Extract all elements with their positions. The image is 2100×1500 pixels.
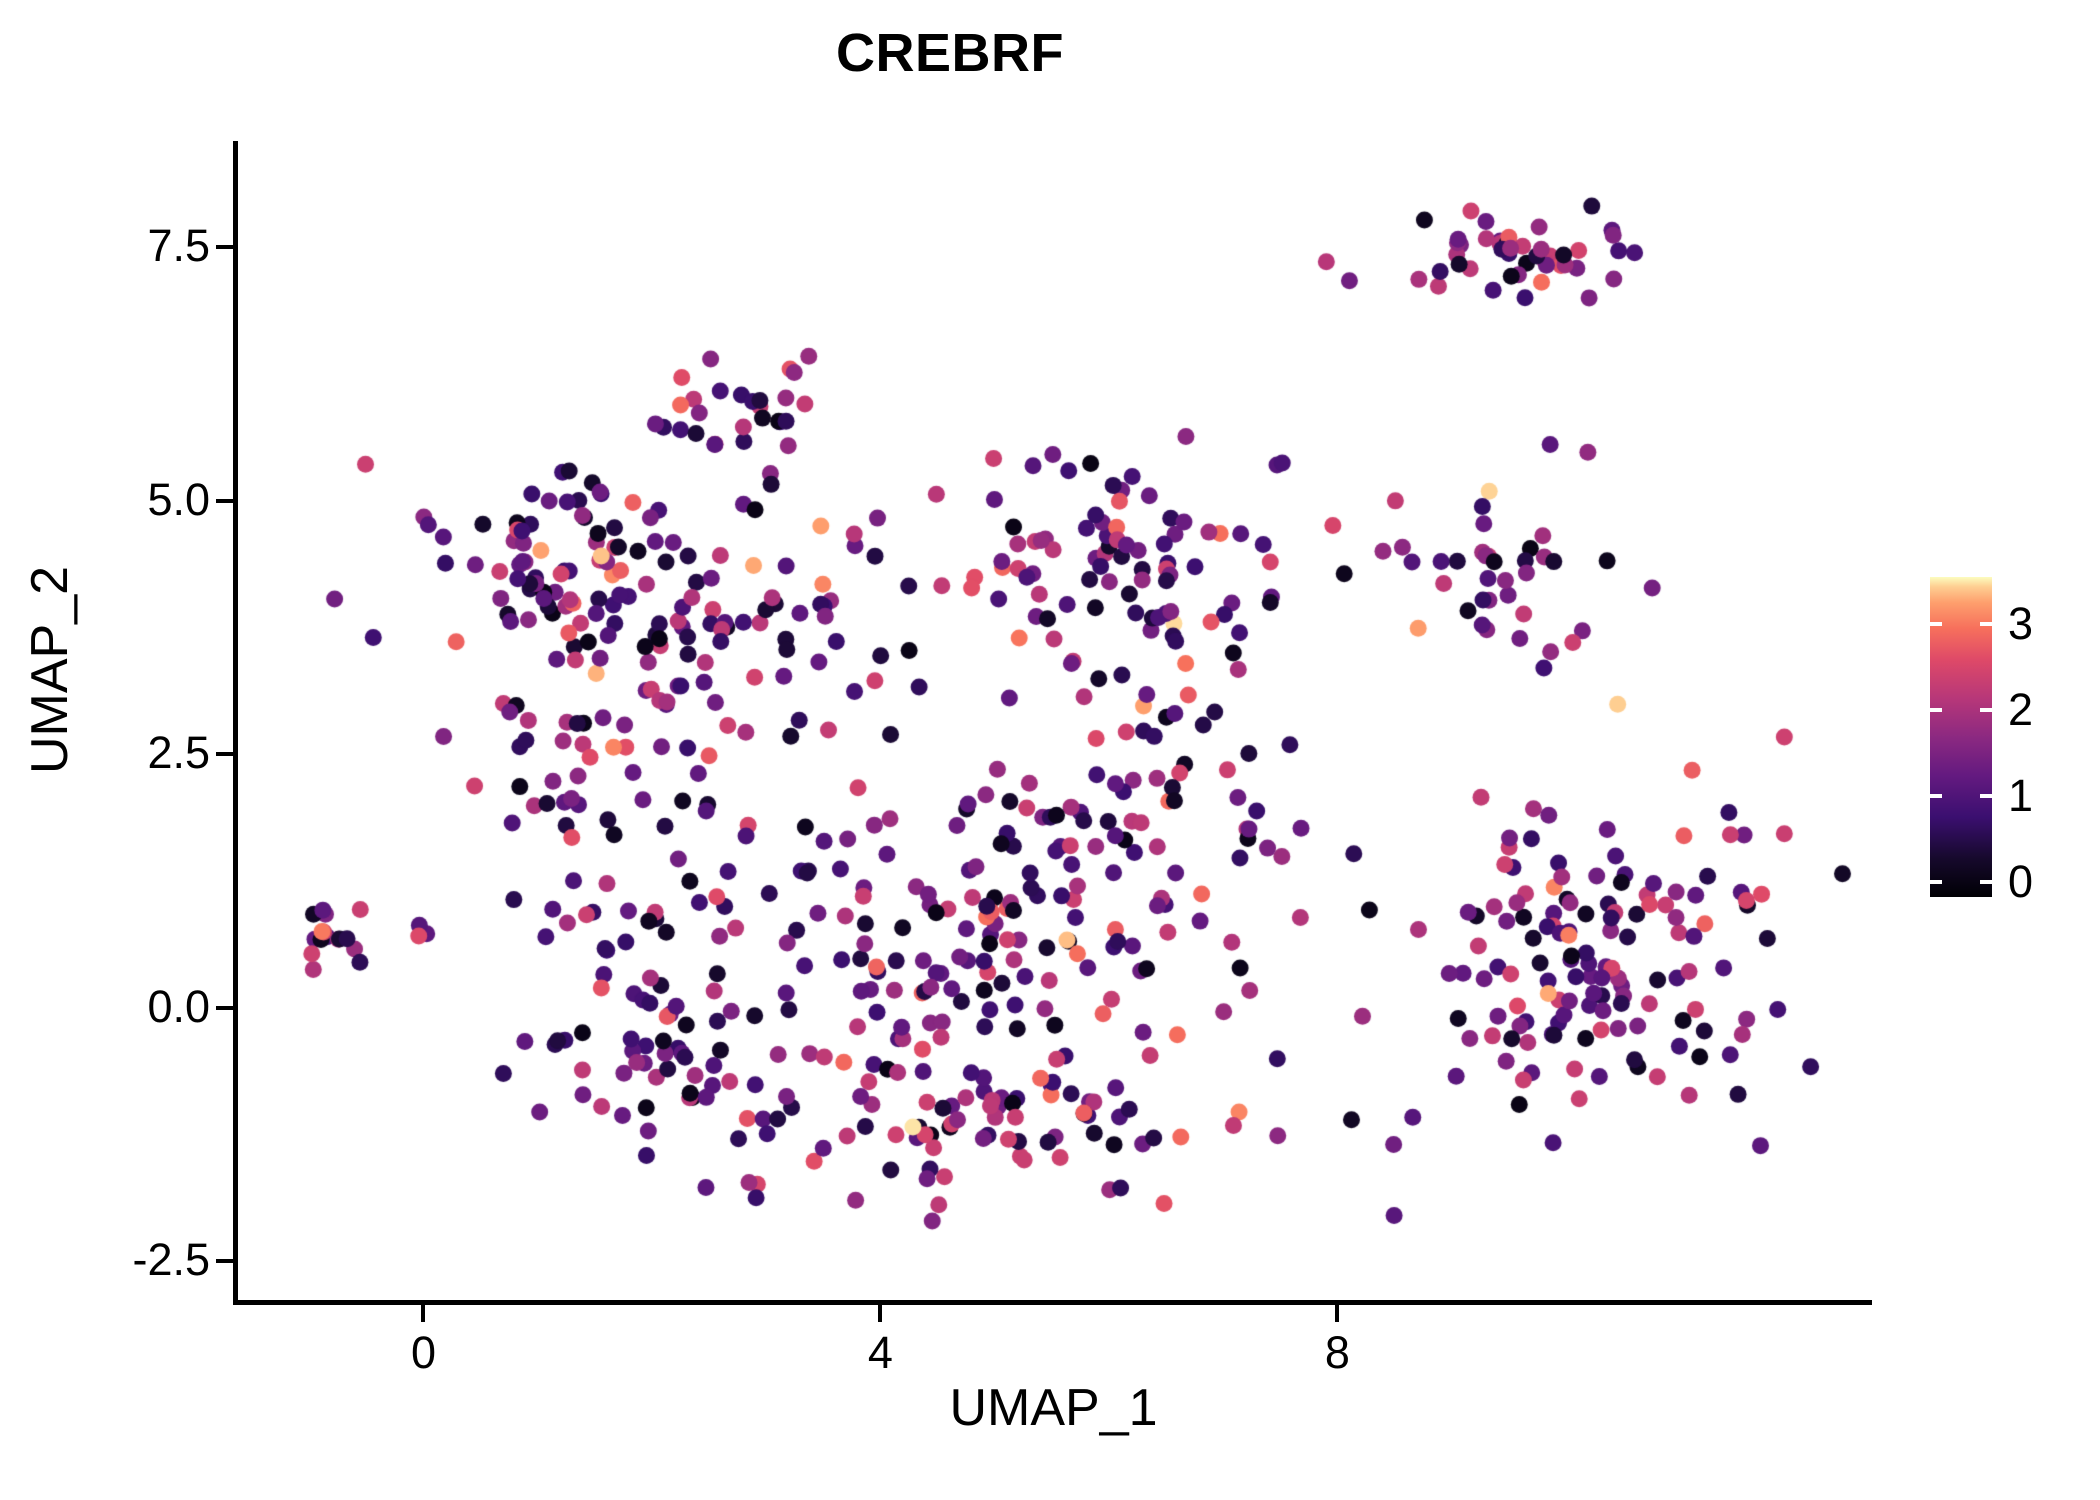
colorbar-legend: 0123 <box>1930 577 2090 907</box>
y-tick-mark <box>216 499 233 503</box>
x-tick-label: 8 <box>1237 1327 1437 1379</box>
y-tick-label: 5.0 <box>147 474 210 526</box>
scatter-points-layer <box>235 141 1872 1302</box>
y-tick-label: 2.5 <box>147 727 210 779</box>
colorbar-tick-mark <box>1930 880 1992 884</box>
x-tick-mark <box>1335 1305 1339 1322</box>
colorbar-tick-label: 1 <box>2008 770 2033 822</box>
y-tick-mark <box>216 752 233 756</box>
y-tick-label: 7.5 <box>147 220 210 272</box>
colorbar-tick-mark <box>1930 622 1992 626</box>
y-tick-mark <box>216 245 233 249</box>
x-tick-mark <box>878 1305 882 1322</box>
x-tick-mark <box>421 1305 425 1322</box>
x-tick-label: 0 <box>323 1327 523 1379</box>
y-tick-mark <box>216 1259 233 1263</box>
x-axis-line <box>233 1300 1872 1305</box>
y-axis-title: UMAP_2 <box>20 390 80 950</box>
colorbar-tick-mark <box>1930 794 1992 798</box>
y-tick-label: -2.5 <box>132 1234 210 1286</box>
colorbar-tick-label: 2 <box>2008 684 2033 736</box>
x-tick-label: 4 <box>780 1327 980 1379</box>
colorbar-tick-mark <box>1930 708 1992 712</box>
colorbar-tick-label: 3 <box>2008 598 2033 650</box>
plot-panel <box>235 141 1872 1302</box>
y-tick-label: 0.0 <box>147 981 210 1033</box>
umap-feature-plot: CREBRF -2.50.02.55.07.5 048 UMAP_2 UMAP_… <box>0 0 2100 1500</box>
page-title: CREBRF <box>0 22 1900 84</box>
x-axis-title: UMAP_1 <box>235 1378 1872 1438</box>
colorbar-tick-label: 0 <box>2008 856 2033 908</box>
y-axis-line <box>233 141 238 1304</box>
y-tick-mark <box>216 1006 233 1010</box>
